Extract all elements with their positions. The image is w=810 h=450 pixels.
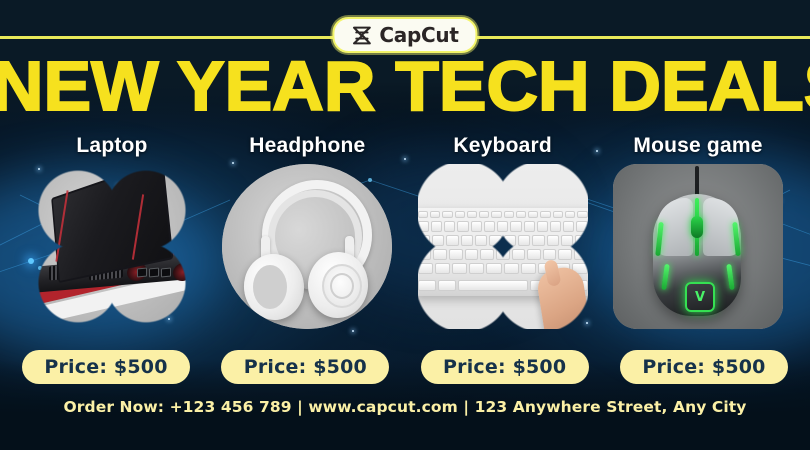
product-card-mouse[interactable]: Mouse game V — [608, 134, 788, 384]
product-card-laptop[interactable]: Laptop — [22, 134, 202, 384]
capcut-logo-text: CapCut — [379, 23, 458, 47]
poster-canvas: CapCut NEW YEAR TECH DEALS Laptop — [0, 0, 810, 450]
keyboard-photo — [418, 164, 588, 329]
product-card-keyboard[interactable]: Keyboard — [413, 134, 593, 384]
price-row: Price: $500 Price: $500 Price: $500 Pric… — [0, 350, 810, 384]
product-row: Laptop Headphone — [0, 134, 810, 384]
product-card-headphone[interactable]: Headphone — [217, 134, 397, 384]
gaming-mouse-photo: V — [613, 164, 783, 329]
product-title: Mouse game — [633, 134, 762, 158]
mouse-brand-logo-icon: V — [685, 282, 715, 312]
contact-footer: Order Now: +123 456 789 | www.capcut.com… — [0, 398, 810, 416]
laptop-photo — [27, 164, 197, 329]
price-badge-headphone[interactable]: Price: $500 — [221, 350, 389, 384]
page-title: NEW YEAR TECH DEALS — [0, 52, 810, 120]
price-badge-mouse[interactable]: Price: $500 — [620, 350, 788, 384]
headphone-photo — [222, 164, 392, 329]
price-badge-laptop[interactable]: Price: $500 — [22, 350, 190, 384]
capcut-hourglass-icon — [351, 25, 372, 46]
product-title: Keyboard — [453, 134, 551, 158]
price-badge-keyboard[interactable]: Price: $500 — [421, 350, 589, 384]
product-title: Laptop — [76, 134, 147, 158]
capcut-logo[interactable]: CapCut — [332, 17, 477, 53]
product-title: Headphone — [249, 134, 365, 158]
